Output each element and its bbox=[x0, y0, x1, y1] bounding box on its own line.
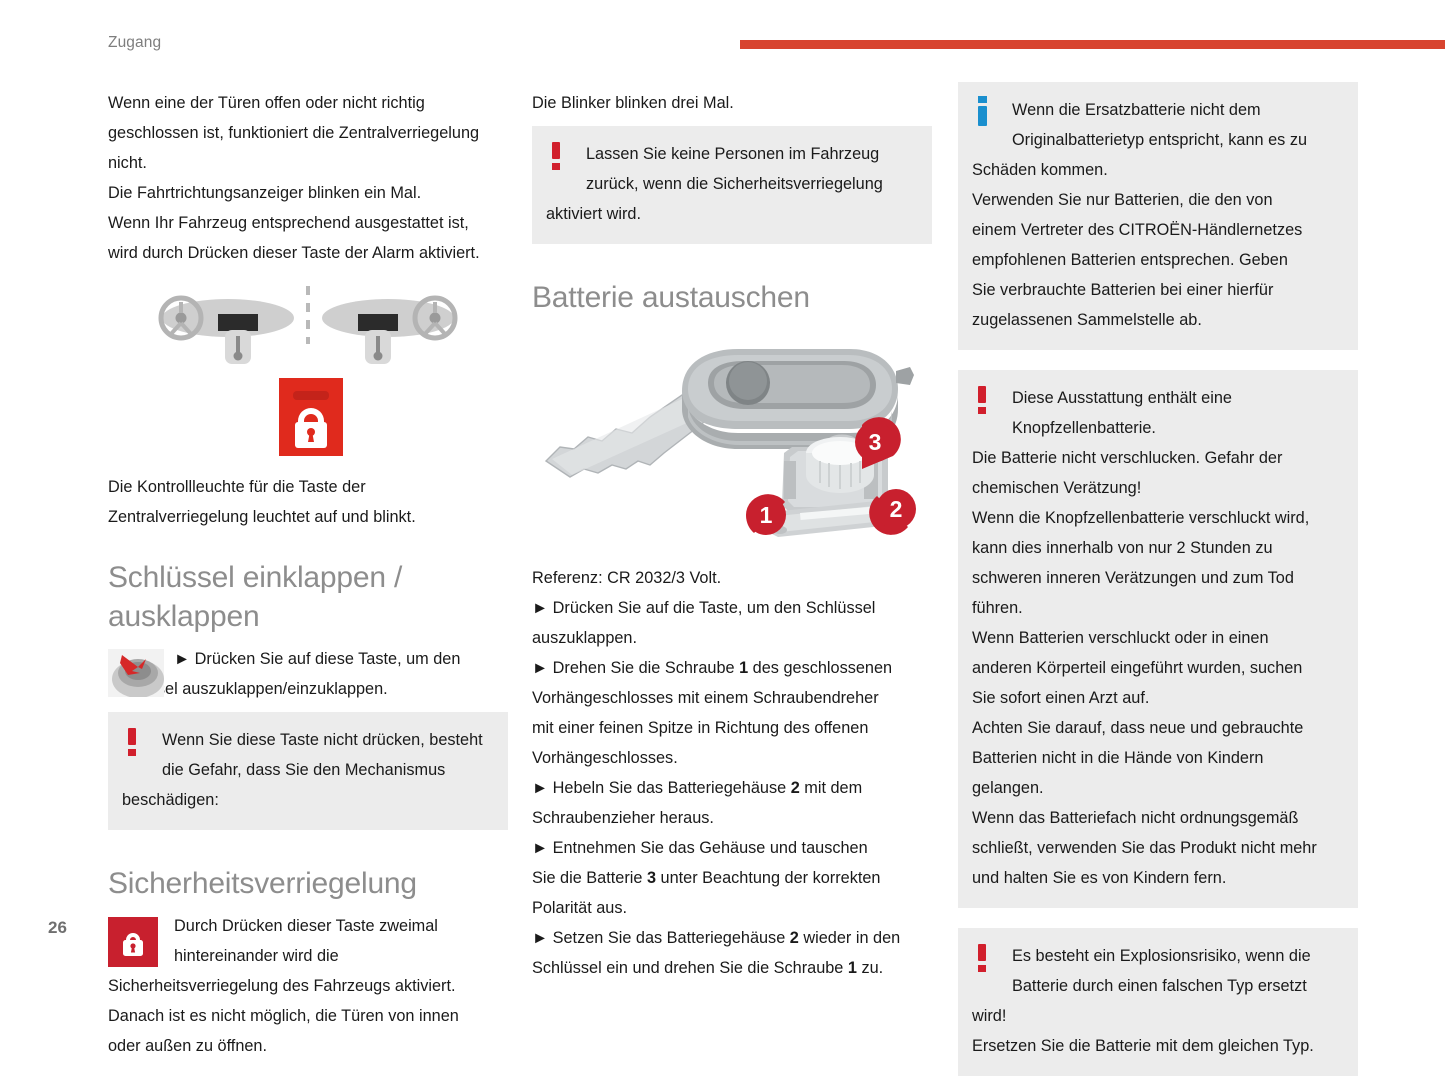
padlock-icon bbox=[118, 926, 148, 958]
intro-paragraph: Wenn eine der Türen offen oder nicht ric… bbox=[108, 88, 508, 268]
section-title-battery-replace: Batterie austauschen bbox=[532, 278, 932, 317]
battery-bullet-3: ► Hebeln Sie das Batteriegehäuse 2 mit d… bbox=[532, 773, 932, 803]
column-3: Wenn die Ersatzbatterie nicht dem Origin… bbox=[958, 62, 1358, 1076]
indicator-paragraph: Die Kontrollleuchte für die Taste der Ze… bbox=[108, 472, 508, 532]
page-number: 26 bbox=[48, 918, 67, 938]
warning-exclamation-icon bbox=[976, 944, 990, 974]
warning-box-explosion-risk-text: Es besteht ein Explosionsrisiko, wenn di… bbox=[972, 941, 1342, 1061]
info-box-battery-type-text: Wenn die Ersatzbatterie nicht dem Origin… bbox=[972, 95, 1342, 335]
section-title-key-fold: Schlüssel einklappen / ausklappen bbox=[108, 558, 508, 636]
warning-exclamation-icon bbox=[126, 728, 140, 758]
dashboard-illustration-svg bbox=[108, 282, 508, 372]
battery-bullet-4: ► Entnehmen Sie das Gehäuse und tauschen bbox=[532, 833, 932, 863]
key-battery-exploded-illustration: 3 1 2 bbox=[532, 337, 932, 563]
warning-exclamation-icon bbox=[550, 142, 564, 172]
blinker-paragraph: Die Blinker blinken drei Mal. bbox=[532, 88, 932, 118]
deadlocking-instruction: Durch Drücken dieser Taste zweimal hinte… bbox=[108, 911, 508, 1061]
lhd-rhd-dashboard-figure bbox=[108, 282, 508, 372]
callout-1-label: 1 bbox=[760, 502, 773, 528]
section-title-deadlocking: Sicherheitsverriegelung bbox=[108, 864, 508, 903]
warning-box-mechanism: Wenn Sie diese Taste nicht drücken, best… bbox=[108, 712, 508, 830]
column-1: Wenn eine der Türen offen oder nicht ric… bbox=[108, 62, 508, 1061]
warning-box-button-cell-text: Diese Ausstattung enthält eine Knopfzell… bbox=[972, 383, 1342, 893]
header-red-rule bbox=[740, 40, 1445, 49]
warning-box-explosion-risk: Es besteht ein Explosionsrisiko, wenn di… bbox=[958, 928, 1358, 1076]
column-2: Die Blinker blinken drei Mal. Lassen Sie… bbox=[532, 62, 932, 983]
key-button-photo-icon bbox=[108, 649, 164, 697]
deadlock-padlock-badge bbox=[108, 917, 158, 967]
battery-instructions: Referenz: CR 2032/3 Volt. ► Drücken Sie … bbox=[532, 563, 932, 983]
warning-box-occupants: Lassen Sie keine Personen im Fahrzeug zu… bbox=[532, 126, 932, 244]
battery-bullet-2: ► Drehen Sie die Schraube 1 des geschlos… bbox=[532, 653, 932, 683]
callout-2-label: 2 bbox=[890, 496, 903, 522]
central-locking-indicator-figure bbox=[108, 372, 508, 472]
battery-bullet-5: ► Setzen Sie das Batteriegehäuse 2 wiede… bbox=[532, 923, 932, 953]
key-fold-instruction: ► Drücken Sie auf diese Taste, um den Sc… bbox=[108, 644, 508, 704]
warning-box-occupants-text: Lassen Sie keine Personen im Fahrzeug zu… bbox=[546, 139, 916, 229]
page-header: Zugang bbox=[0, 0, 1445, 62]
warning-box-mechanism-text: Wenn Sie diese Taste nicht drücken, best… bbox=[122, 725, 492, 815]
battery-reference: Referenz: CR 2032/3 Volt. bbox=[532, 563, 932, 593]
key-button-thumbnail bbox=[108, 649, 164, 697]
information-icon bbox=[976, 96, 990, 126]
callout-3-label: 3 bbox=[869, 429, 882, 455]
battery-bullet-1: ► Drücken Sie auf die Taste, um den Schl… bbox=[532, 593, 932, 623]
callout-1: 1 bbox=[746, 494, 786, 535]
key-fold-instruction-text: ► Drücken Sie auf diese Taste, um den Sc… bbox=[108, 644, 508, 704]
chapter-label: Zugang bbox=[108, 34, 161, 52]
key-battery-exploded-figure: 3 1 2 bbox=[532, 337, 932, 563]
central-locking-indicator-icon bbox=[108, 372, 508, 472]
warning-box-button-cell: Diese Ausstattung enthält eine Knopfzell… bbox=[958, 370, 1358, 908]
warning-exclamation-icon bbox=[976, 386, 990, 416]
info-box-battery-type: Wenn die Ersatzbatterie nicht dem Origin… bbox=[958, 82, 1358, 350]
deadlocking-instruction-text: Durch Drücken dieser Taste zweimal hinte… bbox=[108, 911, 508, 1061]
